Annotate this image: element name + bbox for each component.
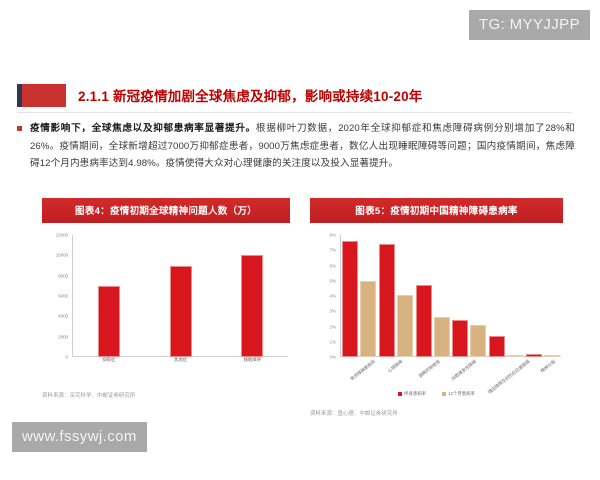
body-paragraph-block: 疫情影响下，全球焦虑以及抑郁患病率显著提升。根据柳叶刀数据，2020年全球抑郁症…	[17, 120, 575, 173]
x-tick-label: 强迫障碍及创伤后应激障碍	[487, 359, 531, 395]
figure-5-source: 资料来源：壹心理、中邮证券研究所	[310, 409, 563, 417]
legend-item-lifetime: 终身患病率	[398, 391, 426, 397]
body-lead-sentence: 疫情影响下，全球焦虑以及抑郁患病率显著提升。	[30, 123, 256, 134]
bar-series-1	[379, 244, 395, 357]
figure-panel-5: 图表5：疫情初期中国精神障碍患病率 8% 7% 6% 5% 4% 3% 2% 1…	[310, 198, 563, 417]
figure-4-title: 图表4：疫情初期全球精神问题人数（万）	[42, 198, 290, 223]
bar-group	[524, 235, 561, 357]
bar-series-1	[489, 336, 505, 357]
y-tick: 6%	[330, 263, 336, 268]
figure-5-plot: 8% 7% 6% 5% 4% 3% 2% 1% 0%	[310, 235, 563, 375]
figure-panel-4: 图表4：疫情初期全球精神问题人数（万） 12000 10000 8000 600…	[42, 198, 290, 399]
y-tick: 12000	[56, 233, 68, 238]
x-tick-label: 焦虑障碍患病率	[349, 359, 376, 382]
figure-4-x-labels: 抑郁症 焦虑症 睡眠障碍	[73, 357, 288, 375]
y-tick: 0%	[330, 355, 336, 360]
y-tick: 0	[66, 355, 68, 360]
bar	[170, 266, 192, 358]
bar-series-1	[342, 241, 358, 357]
y-tick: 3%	[330, 309, 336, 314]
y-tick: 1%	[330, 339, 336, 344]
figure-4-y-axis: 12000 10000 8000 6000 4000 2000 0	[42, 235, 72, 357]
y-tick: 8000	[58, 273, 68, 278]
figure-5-title: 图表5：疫情初期中国精神障碍患病率	[310, 198, 563, 223]
page-title: 2.1.1 新冠疫情加剧全球焦虑及抑郁，影响或持续10-20年	[78, 85, 423, 105]
bar-group	[414, 235, 451, 357]
bullet-square-icon	[17, 126, 22, 131]
watermark-bottom: www.fssywj.com	[12, 422, 147, 452]
y-tick: 4000	[58, 314, 68, 319]
figure-4-bars	[73, 235, 288, 357]
bar-series-2	[360, 281, 376, 357]
heading-divider	[17, 112, 572, 113]
figure-5-legend: 终身患病率 12个月患病率	[310, 391, 563, 397]
figure-4-plot: 12000 10000 8000 6000 4000 2000 0 抑郁症 焦虑…	[42, 235, 290, 375]
watermark-top: TG: MYYJJPP	[469, 10, 590, 40]
y-tick: 2%	[330, 324, 336, 329]
y-tick: 7%	[330, 248, 336, 253]
bar-series-2	[397, 295, 413, 357]
heading-accent-mark	[17, 84, 66, 107]
bar-group	[341, 235, 378, 357]
x-tick-label: 间歇爆发性障碍	[450, 359, 477, 382]
y-tick: 8%	[330, 233, 336, 238]
x-tick-label: 睡眠障碍	[244, 357, 261, 363]
section-heading: 2.1.1 新冠疫情加剧全球焦虑及抑郁，影响或持续10-20年	[0, 82, 600, 108]
bar-group	[145, 235, 217, 357]
bar-group	[73, 235, 145, 357]
bar-group	[216, 235, 288, 357]
figure-4-source: 资料来源：深究科学、中邮证券研究所	[42, 391, 290, 399]
bar-group	[451, 235, 488, 357]
x-tick-label: 精神分裂	[539, 359, 556, 374]
x-tick-label: 心境障碍	[387, 359, 404, 374]
legend-item-12month: 12个月患病率	[442, 391, 475, 397]
legend-label: 终身患病率	[404, 391, 426, 397]
figure-5-y-axis: 8% 7% 6% 5% 4% 3% 2% 1% 0%	[310, 235, 340, 357]
x-tick-label: 抑郁症	[102, 357, 115, 363]
bar-series-1	[416, 285, 432, 357]
x-tick-label: 酒精药物使用	[418, 359, 442, 380]
body-paragraph: 疫情影响下，全球焦虑以及抑郁患病率显著提升。根据柳叶刀数据，2020年全球抑郁症…	[30, 120, 575, 173]
figure-5-bars	[341, 235, 561, 357]
y-tick: 5%	[330, 278, 336, 283]
bar-group	[488, 235, 525, 357]
y-tick: 4%	[330, 294, 336, 299]
bar-series-2	[434, 317, 450, 357]
bar-series-2	[470, 325, 486, 357]
y-tick: 6000	[58, 294, 68, 299]
bar	[241, 255, 263, 357]
y-tick: 2000	[58, 334, 68, 339]
y-tick: 10000	[56, 253, 68, 258]
legend-swatch-icon	[398, 392, 402, 396]
figure-5-x-labels: 焦虑障碍患病率 心境障碍 酒精药物使用 间歇爆发性障碍 强迫障碍及创伤后应激障碍…	[341, 357, 561, 375]
bar	[98, 286, 120, 357]
bar-group	[378, 235, 415, 357]
legend-swatch-icon	[442, 392, 446, 396]
bar-series-1	[452, 320, 468, 357]
x-tick-label: 焦虑症	[174, 357, 187, 363]
legend-label: 12个月患病率	[448, 391, 475, 397]
